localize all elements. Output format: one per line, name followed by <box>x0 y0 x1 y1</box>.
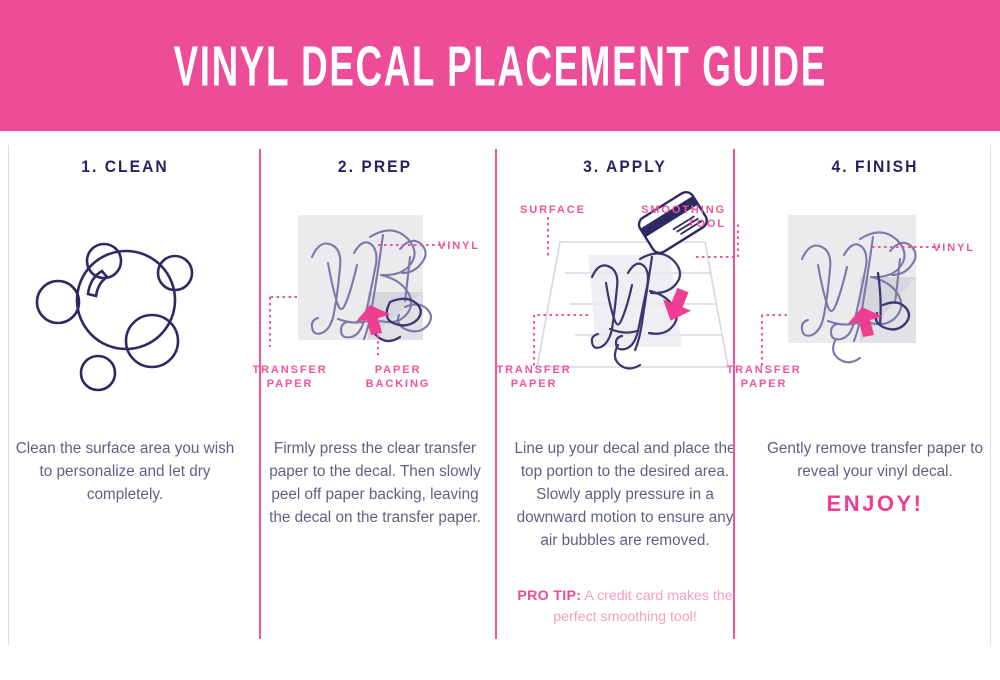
infographic-page: VINYL DECAL PLACEMENT GUIDE 1. CLEAN <box>0 0 1000 680</box>
step-column-finish: 4. FINISH <box>750 131 1000 680</box>
step-body-clean: Clean the surface area you wish to perso… <box>14 437 236 506</box>
label-paper-backing: PAPER BACKING <box>346 363 450 391</box>
illustration-peel-transfer-paper <box>750 197 1000 427</box>
divider-2 <box>495 149 497 639</box>
divider-3 <box>733 149 735 639</box>
step-title-apply: 3. APPLY <box>510 157 740 177</box>
illustration-soap-bubbles <box>0 197 250 427</box>
steps-container: 1. CLEAN Clean the surface area you wish… <box>0 131 1000 680</box>
label-transfer-paper: TRANSFER PAPER <box>712 363 816 391</box>
label-surface: SURFACE <box>520 203 586 217</box>
bubble-bottom <box>81 356 115 390</box>
step-body-prep: Firmly press the clear transfer paper to… <box>264 437 486 529</box>
label-vinyl: VINYL <box>438 239 480 253</box>
step-column-clean: 1. CLEAN Clean the surface area you wish… <box>0 131 250 680</box>
enjoy-text: ENJOY! <box>764 491 986 517</box>
illustration-decal-prep <box>250 197 500 427</box>
label-smoothing-tool: SMOOTHING TOOL <box>620 203 726 231</box>
step-column-prep: 2. PREP <box>250 131 500 680</box>
divider-left-edge <box>8 145 9 645</box>
label-transfer-paper: TRANSFER PAPER <box>482 363 586 391</box>
bubble-left <box>37 281 79 323</box>
bubble-highlight <box>88 271 107 296</box>
header-banner: VINYL DECAL PLACEMENT GUIDE <box>0 0 1000 131</box>
step-title-clean: 1. CLEAN <box>10 157 240 177</box>
divider-right-edge <box>990 145 991 645</box>
pro-tip-text: A credit card makes the perfect smoothin… <box>553 588 732 625</box>
label-vinyl: VINYL <box>933 241 975 255</box>
pro-tip: PRO TIP: A credit card makes the perfect… <box>514 586 736 628</box>
divider-1 <box>259 149 261 639</box>
illustration-apply-surface <box>500 197 750 427</box>
step-body-finish: Gently remove transfer paper to reveal y… <box>764 437 986 483</box>
page-title: VINYL DECAL PLACEMENT GUIDE <box>173 33 826 99</box>
step-column-apply: 3. APPLY <box>500 131 750 680</box>
step-body-apply: Line up your decal and place the top por… <box>514 437 736 552</box>
step-title-prep: 2. PREP <box>260 157 490 177</box>
step-title-finish: 4. FINISH <box>760 157 990 177</box>
pro-tip-lead: PRO TIP: <box>517 588 581 604</box>
bubble-right <box>158 256 192 290</box>
label-transfer-paper: TRANSFER PAPER <box>238 363 342 391</box>
